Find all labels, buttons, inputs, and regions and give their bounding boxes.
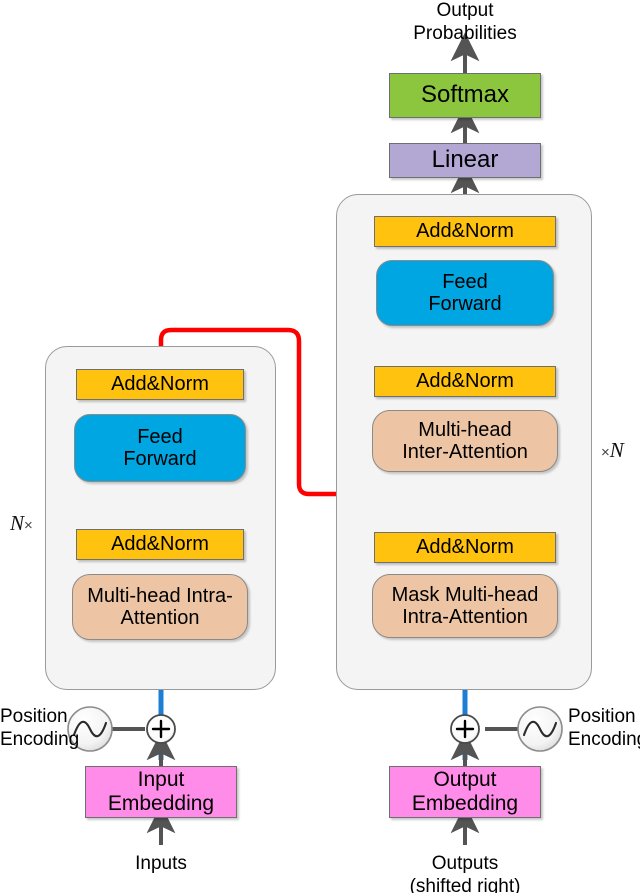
transformer-architecture-diagram: Output Probabilities Softmax Linear ×N A…	[0, 0, 640, 893]
position-encoding-sine-right	[518, 707, 562, 751]
output-probabilities-line1: Output	[385, 0, 545, 23]
position-encoding-label-right: Position Encoding	[568, 706, 640, 752]
encoder-repeat-times: ×	[24, 517, 33, 534]
decoder-repeat-n: N	[610, 438, 624, 462]
decoder-masked-attn-line2: Intra-Attention	[373, 606, 557, 628]
decoder-masked-attn-line1: Mask Multi-head	[373, 584, 557, 606]
encoder-add-norm-bottom-label: Add&Norm	[77, 533, 243, 555]
output-probabilities-line2: Probabilities	[385, 23, 545, 46]
output-embedding-block[interactable]: Output Embedding	[389, 766, 541, 818]
encoder-attn-line1: Multi-head Intra-	[73, 585, 247, 607]
decoder-add-norm-top-label: Add&Norm	[375, 220, 555, 242]
decoder-inter-attention[interactable]: Multi-head Inter-Attention	[372, 410, 558, 472]
encoder-feed-forward[interactable]: Feed Forward	[74, 414, 246, 482]
output-embedding-line1: Output	[390, 768, 540, 792]
encoder-ff-line1: Feed	[75, 426, 245, 448]
encoder-repeat-n: N	[10, 511, 24, 535]
softmax-block[interactable]: Softmax	[389, 73, 541, 118]
input-embedding-line1: Input	[86, 768, 236, 792]
pos-enc-right-line1: Position	[568, 706, 640, 729]
encoder-add-norm-bottom[interactable]: Add&Norm	[76, 529, 244, 560]
decoder-add-norm-mid-label: Add&Norm	[375, 370, 555, 392]
encoder-add-norm-top[interactable]: Add&Norm	[76, 369, 244, 400]
input-embedding-line2: Embedding	[86, 792, 236, 816]
decoder-ff-line1: Feed	[377, 271, 553, 293]
decoder-repeat-times: ×	[601, 444, 610, 461]
outputs-text-line2: (shifted right)	[395, 876, 535, 893]
pos-enc-left-line1: Position	[0, 706, 66, 729]
encoder-self-attention[interactable]: Multi-head Intra- Attention	[72, 574, 248, 640]
output-probabilities-label: Output Probabilities	[385, 0, 545, 46]
decoder-ff-line2: Forward	[377, 293, 553, 315]
decoder-repeat-label: ×N	[601, 438, 624, 463]
encoder-ff-line2: Forward	[75, 448, 245, 470]
pos-enc-left-line2: Encoding	[0, 729, 66, 752]
decoder-add-norm-mid[interactable]: Add&Norm	[374, 366, 556, 397]
outputs-text-line1: Outputs	[395, 853, 535, 876]
encoder-attn-line2: Attention	[73, 607, 247, 629]
encoder-repeat-label: N×	[10, 511, 33, 536]
output-embedding-line2: Embedding	[390, 792, 540, 816]
decoder-feed-forward[interactable]: Feed Forward	[376, 260, 554, 326]
input-embedding-block[interactable]: Input Embedding	[85, 766, 237, 818]
outputs-label: Outputs (shifted right)	[395, 853, 535, 893]
inputs-label: Inputs	[101, 853, 221, 876]
softmax-label: Softmax	[390, 82, 540, 109]
pos-enc-right-line2: Encoding	[568, 729, 640, 752]
decoder-add-norm-top[interactable]: Add&Norm	[374, 216, 556, 247]
encoder-add-norm-top-label: Add&Norm	[77, 373, 243, 395]
linear-block[interactable]: Linear	[389, 143, 541, 178]
sum-node-right	[451, 715, 479, 743]
decoder-masked-self-attention[interactable]: Mask Multi-head Intra-Attention	[372, 574, 558, 638]
position-encoding-label-left: Position Encoding	[0, 706, 66, 752]
sum-node-left	[147, 715, 175, 743]
decoder-inter-attn-line1: Multi-head	[373, 419, 557, 441]
inputs-text: Inputs	[101, 853, 221, 876]
linear-label: Linear	[390, 147, 540, 174]
decoder-inter-attn-line2: Inter-Attention	[373, 441, 557, 463]
decoder-add-norm-bottom-label: Add&Norm	[375, 536, 555, 558]
decoder-add-norm-bottom[interactable]: Add&Norm	[374, 532, 556, 563]
